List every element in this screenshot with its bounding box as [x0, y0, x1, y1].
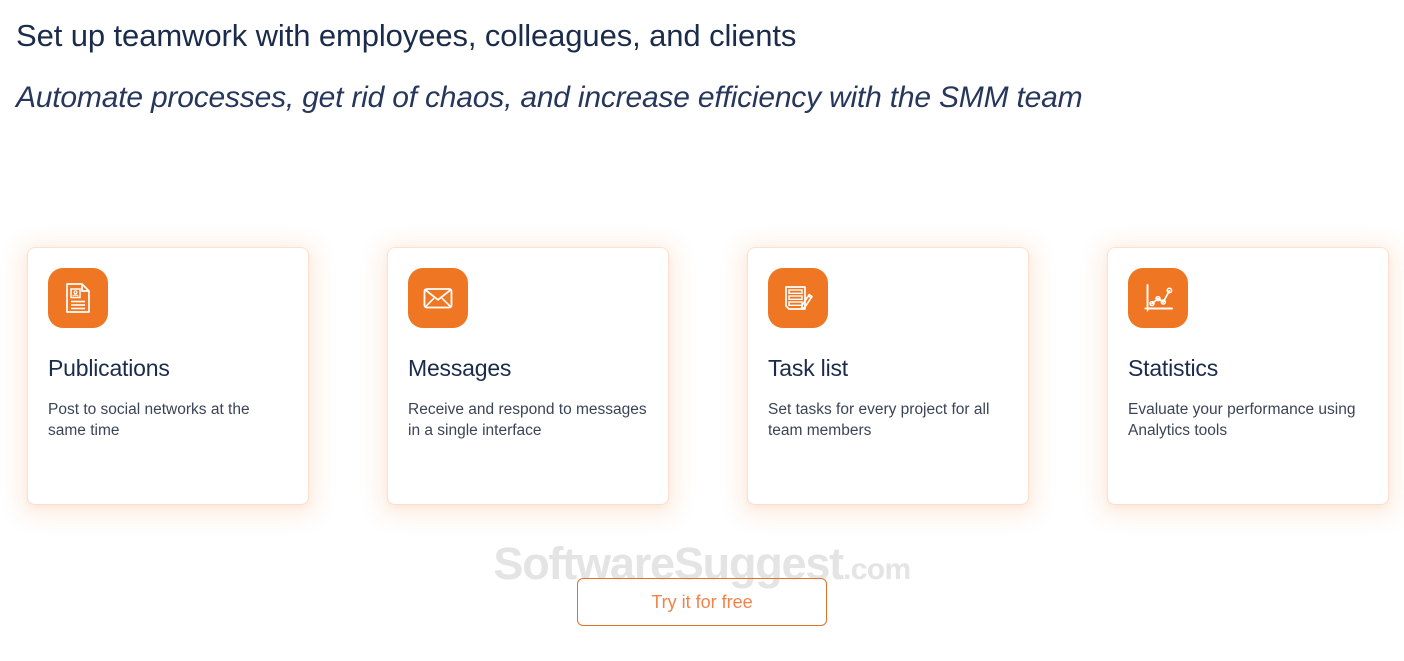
page-subtitle: Automate processes, get rid of chaos, an… — [16, 70, 1336, 126]
feature-card-title: Task list — [768, 355, 1008, 381]
hero-heading-block: Set up teamwork with employees, colleagu… — [16, 14, 1356, 126]
feature-card-messages[interactable]: Messages Receive and respond to messages… — [388, 248, 668, 504]
feature-card-description: Post to social networks at the same time — [48, 400, 288, 441]
cta-container: Try it for free — [0, 578, 1404, 626]
feature-card-description: Receive and respond to messages in a sin… — [408, 400, 648, 441]
document-id-icon — [48, 268, 108, 328]
feature-card-description: Set tasks for every project for all team… — [768, 400, 1008, 441]
feature-card-statistics[interactable]: Statistics Evaluate your performance usi… — [1108, 248, 1388, 504]
feature-card-publications[interactable]: Publications Post to social networks at … — [28, 248, 308, 504]
page-title: Set up teamwork with employees, colleagu… — [16, 14, 1356, 58]
feature-card-title: Publications — [48, 355, 288, 381]
feature-card-title: Statistics — [1128, 355, 1368, 381]
line-chart-icon — [1128, 268, 1188, 328]
feature-cards-row: Publications Post to social networks at … — [28, 248, 1388, 504]
feature-card-task-list[interactable]: Task list Set tasks for every project fo… — [748, 248, 1028, 504]
task-list-pencil-icon — [768, 268, 828, 328]
feature-card-description: Evaluate your performance using Analytic… — [1128, 400, 1368, 441]
envelope-icon — [408, 268, 468, 328]
landing-page-section: Set up teamwork with employees, colleagu… — [0, 0, 1404, 661]
feature-card-title: Messages — [408, 355, 648, 381]
try-it-for-free-button[interactable]: Try it for free — [577, 578, 827, 626]
